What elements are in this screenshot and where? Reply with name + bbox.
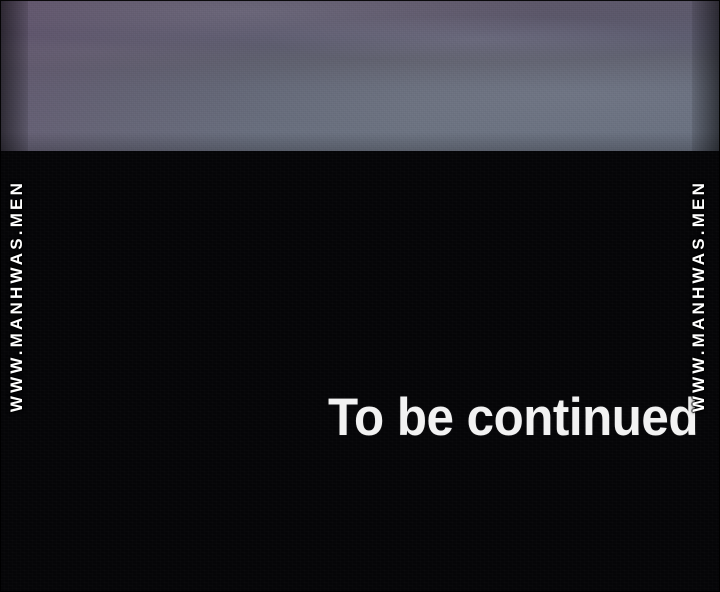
to-be-continued-caption: To be continued (328, 386, 644, 448)
sky-background (0, 0, 720, 151)
comic-panel: To be continued WWW.MANHWAS.MEN WWW.MANH… (0, 0, 720, 592)
dark-foreground (0, 151, 720, 592)
